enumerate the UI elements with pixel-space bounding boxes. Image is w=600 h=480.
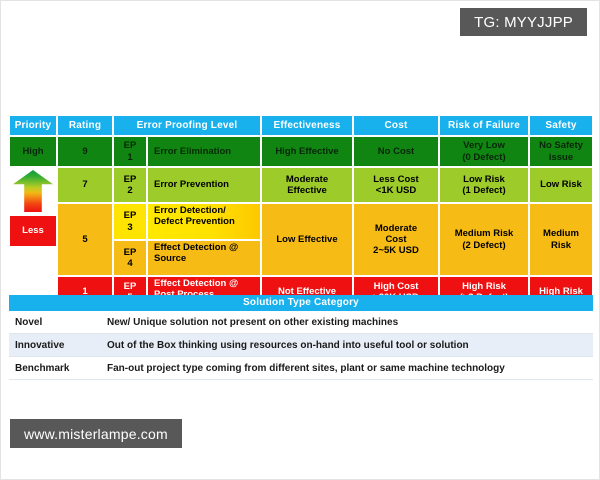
cost-cell-3: Moderate Cost 2~5K USD bbox=[353, 203, 439, 276]
risk-cell-5-line1: High Risk bbox=[462, 281, 506, 292]
cost-cell-2: Less Cost <1K USD bbox=[353, 167, 439, 203]
risk-cell-2-line1: Low Risk bbox=[463, 174, 505, 185]
rating-column: 9 7 5 1 bbox=[57, 136, 113, 308]
cost-cell-3-line3: 2~5K USD bbox=[373, 245, 419, 256]
cost-column: No Cost Less Cost <1K USD Moderate Cost … bbox=[353, 136, 439, 308]
risk-of-failure-column: Very Low (0 Defect) Low Risk (1 Defect) … bbox=[439, 136, 529, 308]
priority-column: High Less bbox=[9, 136, 57, 308]
risk-cell-3: Medium Risk (2 Defect) bbox=[439, 203, 529, 276]
ep-description-4: Effect Detection @ Source bbox=[147, 240, 261, 276]
ep-code-label-5: EP bbox=[124, 281, 137, 292]
effectiveness-cell-3: Low Effective bbox=[261, 203, 353, 276]
ep-code-cell-1: EP 1 bbox=[113, 136, 147, 167]
error-proofing-matrix: Priority Rating Error Proofing Level Eff… bbox=[9, 115, 593, 308]
solution-label-benchmark: Benchmark bbox=[9, 363, 107, 374]
solution-label-innovative: Innovative bbox=[9, 340, 107, 351]
safety-column: No Safety issue Low Risk Medium Risk Hig… bbox=[529, 136, 593, 308]
epl-row-ep4: EP 4 Effect Detection @ Source bbox=[113, 240, 261, 276]
effectiveness-column: High Effective Moderate Effective Low Ef… bbox=[261, 136, 353, 308]
ep-description-3: Error Detection/ Defect Prevention bbox=[147, 203, 261, 240]
rating-cell-9: 9 bbox=[57, 136, 113, 167]
cost-cell-1: No Cost bbox=[353, 136, 439, 167]
safety-cell-1: No Safety issue bbox=[529, 136, 593, 167]
solution-row-novel: Novel New/ Unique solution not present o… bbox=[9, 311, 593, 334]
ep-number-label-1: 1 bbox=[124, 152, 137, 163]
solution-type-table: Solution Type Category Novel New/ Unique… bbox=[9, 295, 593, 380]
cost-cell-3-line2: Cost bbox=[385, 234, 406, 245]
effectiveness-cell-2: Moderate Effective bbox=[261, 167, 353, 203]
column-header-error-proofing-level: Error Proofing Level bbox=[113, 115, 261, 136]
column-header-effectiveness: Effectiveness bbox=[261, 115, 353, 136]
ep-number-label-4: 4 bbox=[124, 258, 137, 269]
risk-cell-3-line2: (2 Defect) bbox=[462, 240, 505, 251]
ep-description-1: Error Elimination bbox=[147, 136, 261, 167]
ep-description-4-line1: Effect Detection @ bbox=[154, 242, 238, 253]
column-header-cost: Cost bbox=[353, 115, 439, 136]
ep-code-label-2: EP bbox=[124, 174, 137, 185]
solution-row-benchmark: Benchmark Fan-out project type coming fr… bbox=[9, 357, 593, 380]
up-arrow-icon bbox=[13, 170, 53, 212]
safety-cell-1-line2: issue bbox=[549, 152, 573, 163]
safety-cell-1-line1: No Safety bbox=[539, 140, 583, 151]
ep-code-label-3: EP bbox=[124, 210, 137, 221]
cost-cell-2-line2: <1K USD bbox=[376, 185, 416, 196]
column-header-safety: Safety bbox=[529, 115, 593, 136]
ep-description-3-line2: Defect Prevention bbox=[154, 216, 235, 227]
bottom-tag-label: www.misterlampe.com bbox=[24, 426, 168, 442]
effectiveness-cell-2-line1: Moderate bbox=[286, 174, 328, 185]
error-proofing-level-column: EP 1 Error Elimination EP 2 Error Preven… bbox=[113, 136, 261, 308]
rating-cell-5: 5 bbox=[57, 203, 113, 276]
safety-cell-3-line2: Risk bbox=[551, 240, 571, 251]
safety-cell-3: Medium Risk bbox=[529, 203, 593, 276]
column-header-priority: Priority bbox=[9, 115, 57, 136]
matrix-header-row: Priority Rating Error Proofing Level Eff… bbox=[9, 115, 593, 136]
cost-cell-2-line1: Less Cost bbox=[373, 174, 418, 185]
solution-text-benchmark: Fan-out project type coming from differe… bbox=[107, 363, 593, 374]
ep-code-label-1: EP bbox=[124, 140, 137, 151]
ep-description-2: Error Prevention bbox=[147, 167, 261, 203]
cost-cell-5-line1: High Cost bbox=[374, 281, 419, 292]
epl-row-ep1: EP 1 Error Elimination bbox=[113, 136, 261, 167]
priority-gradient-arrow-cell bbox=[9, 167, 57, 215]
effectiveness-cell-1: High Effective bbox=[261, 136, 353, 167]
ep-description-5-line1: Effect Detection @ bbox=[154, 278, 238, 289]
top-tag-label: TG: MYYJJPP bbox=[474, 14, 573, 31]
priority-high-cell: High bbox=[9, 136, 57, 167]
column-header-risk-of-failure: Risk of Failure bbox=[439, 115, 529, 136]
matrix-body: High Less 9 7 5 1 EP 1 bbox=[9, 136, 593, 308]
risk-cell-1-line1: Very Low bbox=[463, 140, 505, 151]
ep-code-label-4: EP bbox=[124, 247, 137, 258]
risk-cell-2: Low Risk (1 Defect) bbox=[439, 167, 529, 203]
solution-label-novel: Novel bbox=[9, 317, 107, 328]
solution-type-title: Solution Type Category bbox=[9, 295, 593, 311]
epl-row-ep3: EP 3 Error Detection/ Defect Prevention bbox=[113, 203, 261, 240]
epl-row-ep2: EP 2 Error Prevention bbox=[113, 167, 261, 203]
ep-description-3-line1: Error Detection/ bbox=[154, 205, 226, 216]
column-header-rating: Rating bbox=[57, 115, 113, 136]
page-frame: TG: MYYJJPP Priority Rating Error Proofi… bbox=[0, 0, 600, 480]
safety-cell-2: Low Risk bbox=[529, 167, 593, 203]
solution-text-novel: New/ Unique solution not present on othe… bbox=[107, 317, 593, 328]
risk-cell-1: Very Low (0 Defect) bbox=[439, 136, 529, 167]
risk-cell-3-line1: Medium Risk bbox=[455, 228, 514, 239]
risk-cell-1-line2: (0 Defect) bbox=[462, 152, 505, 163]
cost-cell-3-line1: Moderate bbox=[375, 223, 417, 234]
safety-cell-3-line1: Medium bbox=[543, 228, 579, 239]
top-tag-badge: TG: MYYJJPP bbox=[460, 8, 587, 36]
ep-number-label-3: 3 bbox=[124, 222, 137, 233]
priority-less-cell: Less bbox=[9, 215, 57, 247]
ep-code-cell-4: EP 4 bbox=[113, 240, 147, 276]
ep-number-label-2: 2 bbox=[124, 185, 137, 196]
risk-cell-2-line2: (1 Defect) bbox=[462, 185, 505, 196]
bottom-tag-badge: www.misterlampe.com bbox=[10, 419, 182, 448]
ep-code-cell-2: EP 2 bbox=[113, 167, 147, 203]
rating-cell-7: 7 bbox=[57, 167, 113, 203]
ep-code-cell-3: EP 3 bbox=[113, 203, 147, 240]
solution-row-innovative: Innovative Out of the Box thinking using… bbox=[9, 334, 593, 357]
effectiveness-cell-2-line2: Effective bbox=[287, 185, 327, 196]
ep-description-4-line2: Source bbox=[154, 253, 186, 264]
solution-text-innovative: Out of the Box thinking using resources … bbox=[107, 340, 593, 351]
